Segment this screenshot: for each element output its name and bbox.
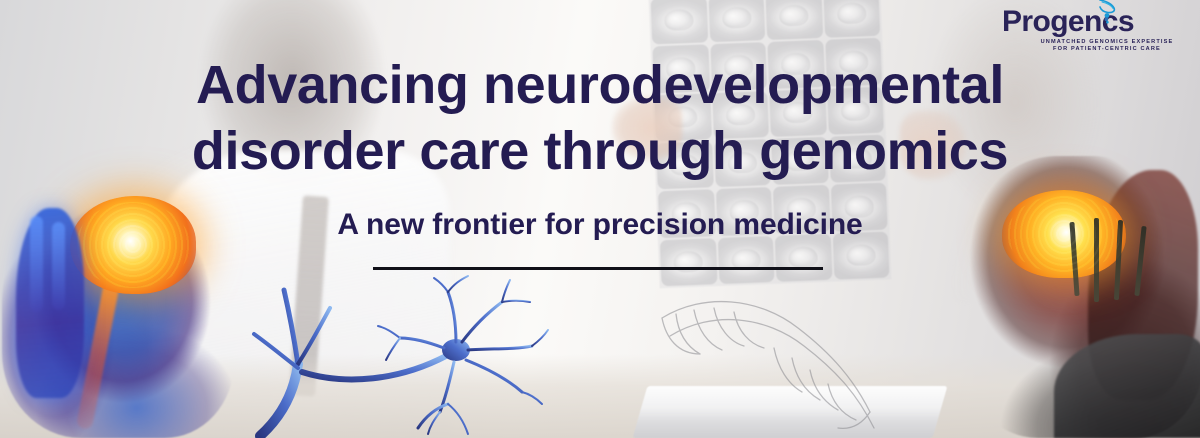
logo-tagline-line-2: FOR PATIENT-CENTRIC CARE (1036, 46, 1178, 53)
banner-content: Advancing neurodevelopmental disorder ca… (0, 0, 1200, 438)
headline-line-1: Advancing neurodevelopmental (196, 55, 1004, 115)
dna-helix-svg (1096, 0, 1118, 24)
page-title: Advancing neurodevelopmental disorder ca… (0, 52, 1200, 184)
dna-helix-icon (1096, 0, 1118, 24)
headline-line-2: disorder care through genomics (0, 118, 1200, 184)
logo-wordmark: Progencs (1002, 6, 1178, 38)
logo-wordmark-part1: Progen (1002, 5, 1102, 38)
banner-subtitle: A new frontier for precision medicine (0, 208, 1200, 242)
logo-tagline: UNMATCHED GENOMICS EXPERTISE FOR PATIENT… (1002, 39, 1178, 54)
title-divider (373, 267, 823, 270)
logo-tagline-line-1: UNMATCHED GENOMICS EXPERTISE (1036, 39, 1178, 46)
progenics-logo[interactable]: Progencs UNMATCHED GENOMICS EXPERTISE FO… (1002, 6, 1178, 54)
hero-banner: Advancing neurodevelopmental disorder ca… (0, 0, 1200, 438)
